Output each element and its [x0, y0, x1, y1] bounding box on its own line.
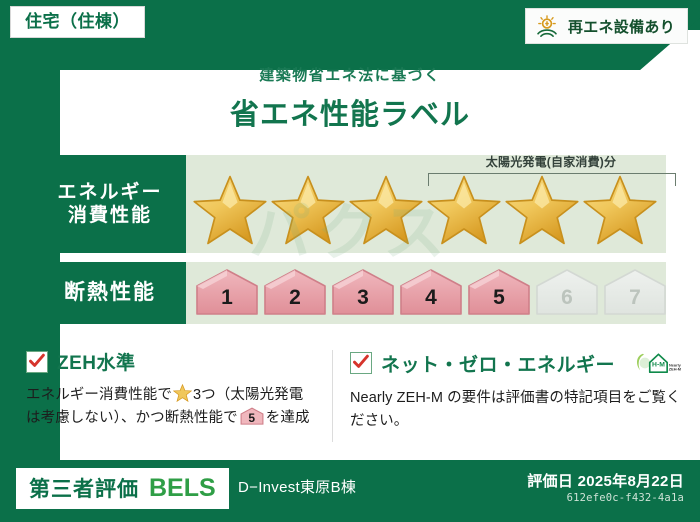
- insulation-house-icon: 2: [262, 268, 328, 318]
- insulation-level-number: 2: [262, 287, 328, 308]
- inline-house-icon: 5: [240, 407, 264, 426]
- zeh-claim: ZEH水準 エネルギー消費性能で 3つ（太陽光発電は考慮しない）、かつ断熱性能で…: [0, 348, 332, 454]
- bels-en-label: BELS: [149, 474, 216, 503]
- footer-bar: 第三者評価 BELS D−Invest東原B棟 評価日 2025年8月22日 6…: [0, 460, 700, 522]
- net-zero-checkbox[interactable]: [350, 352, 372, 374]
- zeh-m-logo-icon: H-M Nearly ZEH-M: [630, 348, 684, 378]
- evaluation-date: 評価日 2025年8月22日: [527, 470, 684, 491]
- energy-performance-body: 太陽光発電(自家消費)分: [186, 155, 666, 253]
- page-title: 省エネ性能ラベル: [0, 91, 700, 133]
- net-zero-claim: ネット・ゼロ・エネルギー H-M Nearly ZEH-M Nearly ZEH…: [332, 348, 700, 454]
- renewable-equipment-badge: 再エネ設備あり: [525, 8, 688, 44]
- zeh-text-part2: は考慮しない）、かつ断熱性能で: [26, 410, 238, 426]
- inline-star-icon: [173, 384, 192, 402]
- insulation-house-icon: 3: [330, 268, 396, 318]
- insulation-performance-row: 断熱性能 1: [34, 262, 666, 324]
- bels-jp-label: 第三者評価: [29, 473, 139, 503]
- category-tag: 住宅（住棟）: [10, 6, 145, 38]
- net-zero-claim-title: ネット・ゼロ・エネルギー: [381, 350, 615, 377]
- insulation-house-icon: 6: [534, 268, 600, 318]
- zeh-claim-header: ZEH水準: [26, 348, 316, 375]
- building-name: D−Invest東原B棟: [238, 476, 356, 497]
- insulation-level-number: 4: [398, 287, 464, 308]
- solar-sun-icon: [534, 13, 560, 39]
- insulation-house-icon: 7: [602, 268, 668, 318]
- svg-text:H-M: H-M: [652, 361, 665, 368]
- zeh-checkbox[interactable]: [26, 351, 48, 373]
- insulation-performance-body: 1 2 3: [186, 262, 668, 324]
- zeh-text-part3: を達成: [266, 410, 310, 426]
- energy-label-line2: 消費性能: [68, 204, 152, 227]
- evaluation-id: 612efe0c-f432-4a1a: [567, 492, 684, 504]
- insulation-level-scale: 1 2 3: [186, 268, 668, 318]
- net-zero-claim-header: ネット・ゼロ・エネルギー H-M Nearly ZEH-M: [350, 348, 684, 378]
- insulation-house-icon: 1: [194, 268, 260, 318]
- insulation-level-number: 6: [534, 287, 600, 308]
- renewable-badge-label: 再エネ設備あり: [568, 16, 675, 37]
- title-block: 建築物省エネ法に基づく 省エネ性能ラベル: [0, 64, 700, 133]
- insulation-house-icon: 4: [398, 268, 464, 318]
- check-icon: [28, 352, 46, 370]
- svg-text:ZEH-M: ZEH-M: [669, 366, 681, 371]
- inline-house-number: 5: [240, 412, 264, 424]
- star-icon: [348, 173, 424, 247]
- zeh-claim-body: エネルギー消費性能で 3つ（太陽光発電は考慮しない）、かつ断熱性能で 5を達成: [26, 384, 316, 431]
- insulation-performance-label: 断熱性能: [34, 262, 186, 324]
- energy-performance-label: エネルギー 消費性能: [34, 155, 186, 253]
- energy-performance-row: エネルギー 消費性能 太陽光発電(自家消費)分: [34, 155, 666, 253]
- insulation-level-number: 3: [330, 287, 396, 308]
- check-icon: [352, 353, 370, 371]
- zeh-star-count-text: 3つ（太陽光発電: [193, 387, 303, 403]
- solar-generation-note: 太陽光発電(自家消費)分: [426, 153, 676, 170]
- insulation-house-icon: 5: [466, 268, 532, 318]
- insulation-level-number: 5: [466, 287, 532, 308]
- net-zero-claim-body: Nearly ZEH-M の要件は評価書の特記項目をご覧ください。: [350, 387, 684, 434]
- label-content: パクス 建築物省エネ法に基づく 省エネ性能ラベル エネルギー 消費性能 太陽光発…: [0, 0, 700, 462]
- title-subtitle: 建築物省エネ法に基づく: [0, 64, 700, 85]
- claims-section: ZEH水準 エネルギー消費性能で 3つ（太陽光発電は考慮しない）、かつ断熱性能で…: [0, 348, 700, 454]
- star-icon: [270, 173, 346, 247]
- insulation-level-number: 1: [194, 287, 260, 308]
- zeh-text-part1: エネルギー消費性能で: [26, 387, 172, 403]
- zeh-claim-title: ZEH水準: [57, 348, 136, 375]
- insulation-level-number: 7: [602, 287, 668, 308]
- energy-performance-label: 住宅（住棟） 再エネ設備あり パクス 建築物省エネ法に基づく 省エネ性能ラベル …: [0, 0, 700, 522]
- bels-badge: 第三者評価 BELS: [16, 468, 229, 509]
- solar-bracket: [428, 173, 676, 186]
- insulation-label-text: 断熱性能: [64, 280, 156, 306]
- energy-label-line1: エネルギー: [57, 181, 162, 204]
- star-icon: [192, 173, 268, 247]
